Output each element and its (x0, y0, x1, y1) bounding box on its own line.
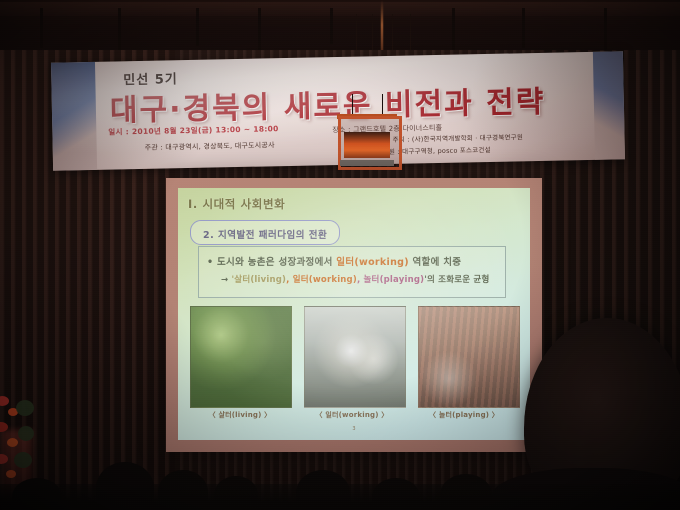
flower-bloom (7, 438, 18, 447)
slide-title: Ⅰ. 시대적 사회변화 (188, 196, 285, 212)
audience-row-shadow (0, 484, 680, 510)
bullet-2-tail: '의 조화로운 균형 (424, 275, 489, 285)
banner-corner-decor-left (51, 62, 97, 171)
rig-bar (330, 8, 333, 44)
rig-bar (258, 8, 261, 52)
bullet-1-text: 도시와 농촌은 성장과정에서 (217, 257, 336, 268)
slide-bullet-2: → '살터(living), 일터(working), 놀터(playing)'… (221, 273, 489, 285)
rig-bar (522, 8, 525, 48)
slide-section-box: 2. 지역발전 패러다임의 전환 (190, 220, 340, 245)
caption-playing: 〈 놀터(playing) 〉 (414, 410, 514, 420)
bullet-2-arrow: → (221, 275, 228, 285)
living-photo (190, 306, 292, 408)
slide-photo-row (190, 306, 520, 406)
hanging-stage-light (338, 108, 396, 170)
banner-organizer-line: 주최 : (사)한국지역개발학회 · 대구경북연구원 (392, 131, 523, 144)
bullet-2-living: '살터(living) (232, 275, 287, 285)
fixture-wire (352, 94, 353, 116)
slide-section-label: 2. 지역발전 패러다임의 전환 (203, 230, 327, 241)
bullet-marker: • (207, 257, 217, 268)
rig-bar (604, 8, 607, 52)
slide-body-box: • 도시와 농촌은 성장과정에서 일터(working) 역할에 치중 → '살… (198, 246, 506, 298)
slide-page-number: 3 (352, 426, 355, 432)
flower-bloom (0, 454, 8, 464)
slide-caption-row: 〈 살터(living) 〉 〈 일터(working) 〉 〈 놀터(play… (190, 410, 520, 420)
banner-date-line: 일시 : 2010년 8월 23일(금) 13:00 ~ 18:00 (108, 123, 278, 137)
lighting-truss (0, 2, 680, 16)
caption-working: 〈 일터(working) 〉 (302, 410, 402, 420)
photo-shading (191, 307, 291, 407)
photo-shading (419, 307, 519, 407)
fixture-wire (382, 94, 383, 116)
presentation-slide: Ⅰ. 시대적 사회변화 2. 지역발전 패러다임의 전환 • 도시와 농촌은 성… (178, 188, 530, 440)
working-photo (304, 306, 406, 408)
bullet-2-playing: , 놀터(playing) (357, 275, 424, 285)
rig-bar (196, 8, 199, 46)
flower-bloom (6, 470, 16, 478)
fixture-base (340, 160, 394, 166)
bullet-1-tail: 역할에 치중 (409, 257, 461, 268)
caption-living: 〈 살터(living) 〉 (190, 410, 290, 420)
bullet-2-working: , 일터(working) (286, 275, 357, 285)
flower-foliage (18, 426, 34, 441)
fixture-lamp-body (344, 132, 390, 158)
rig-bar (40, 8, 43, 48)
photograph-scene: 민선 5기 대구·경북의 새로운 비전과 전략 일시 : 2010년 8월 23… (0, 0, 680, 510)
banner-host-line: 주관 : 대구광역시, 경상북도, 대구도시공사 (145, 140, 275, 153)
flower-foliage (16, 400, 34, 416)
playing-photo (418, 306, 520, 408)
bullet-1-highlight: 일터(working) (336, 257, 409, 268)
flower-foliage (14, 452, 32, 468)
slide-bullet-1: • 도시와 농촌은 성장과정에서 일터(working) 역할에 치중 (207, 254, 461, 268)
photo-shading (305, 307, 405, 407)
flower-bloom (0, 422, 8, 432)
rig-bar (452, 8, 455, 50)
rig-bar (118, 8, 121, 54)
flower-bloom (0, 396, 9, 406)
